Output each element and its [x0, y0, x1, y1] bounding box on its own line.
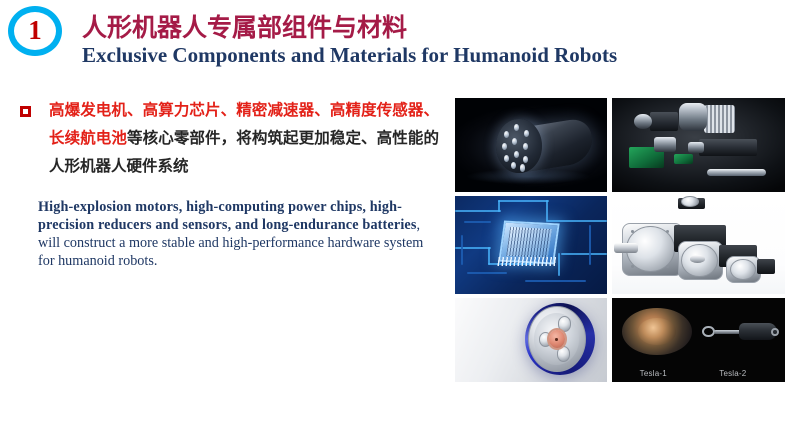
- linear-rod: [707, 169, 766, 176]
- image-tesla-actuators: Tesla-1 Tesla-2: [612, 298, 785, 382]
- chip-pins: [497, 257, 556, 266]
- reducer-inner-plate: [534, 313, 579, 365]
- servo-gearmotor: [699, 139, 758, 156]
- section-number: 1: [28, 17, 42, 44]
- bullet-paragraph-zh: 高爆发电机、高算力芯片、精密减速器、高精度传感器、长续航电池等核心零部件，将构筑…: [49, 96, 439, 180]
- ribbed-motor: [704, 105, 735, 133]
- image-cycloidal-reducer: [455, 298, 607, 382]
- driver-pcb-small: [674, 154, 693, 163]
- reducer-roller-3: [557, 346, 571, 361]
- image-high-torque-motor: [455, 98, 607, 192]
- motor-glow: [467, 169, 589, 184]
- tesla-rotary-actuator: [622, 308, 691, 355]
- tesla-label-2: Tesla-2: [719, 369, 746, 378]
- encoder-face: [681, 196, 699, 207]
- image-gearmotor-assortment: [612, 98, 785, 192]
- gearbox-small: [650, 112, 678, 131]
- section-number-badge: 1: [8, 6, 62, 56]
- servo-large-shaft: [614, 243, 638, 253]
- reducer-housing: [528, 306, 586, 372]
- bullet-en-bold: High-explosion motors, high-computing po…: [38, 199, 417, 233]
- actuator-rod-eye: [702, 326, 715, 337]
- tesla-linear-actuator: [702, 323, 778, 340]
- slide-header: 1 人形机器人专属部组件与材料 Exclusive Components and…: [0, 0, 793, 86]
- encoder-disc: [654, 137, 676, 151]
- servo-small-tail: [757, 259, 774, 275]
- bullet-paragraph-en: High-explosion motors, high-computing po…: [38, 198, 428, 270]
- page-title-zh: 人形机器人专属部组件与材料: [82, 8, 407, 44]
- reducer-hub: [549, 330, 565, 349]
- motor-rotor-face: [496, 119, 542, 174]
- content-text-block: 高爆发电机、高算力芯片、精密减速器、高精度传感器、长续航电池等核心零部件，将构筑…: [0, 96, 450, 396]
- image-circuit-board: [455, 196, 607, 294]
- servo-medium-shaft: [690, 255, 706, 263]
- tesla-label-1: Tesla-1: [640, 369, 667, 378]
- page-title-en: Exclusive Components and Materials for H…: [82, 43, 617, 68]
- image-servo-motor-family: [612, 196, 785, 294]
- reducer-outer-ring: [525, 303, 595, 375]
- image-grid: Tesla-1 Tesla-2: [455, 98, 785, 382]
- servo-small-face: [730, 259, 756, 281]
- output-shaft: [688, 142, 704, 152]
- cylinder-motor: [679, 103, 707, 131]
- bullet-square-icon: [20, 106, 31, 117]
- gear-head: [634, 114, 651, 129]
- bullet-item: 高爆发电机、高算力芯片、精密减速器、高精度传感器、长续航电池等核心零部件，将构筑…: [0, 96, 445, 180]
- actuator-base-eye: [771, 328, 779, 336]
- chip-die: [506, 228, 551, 258]
